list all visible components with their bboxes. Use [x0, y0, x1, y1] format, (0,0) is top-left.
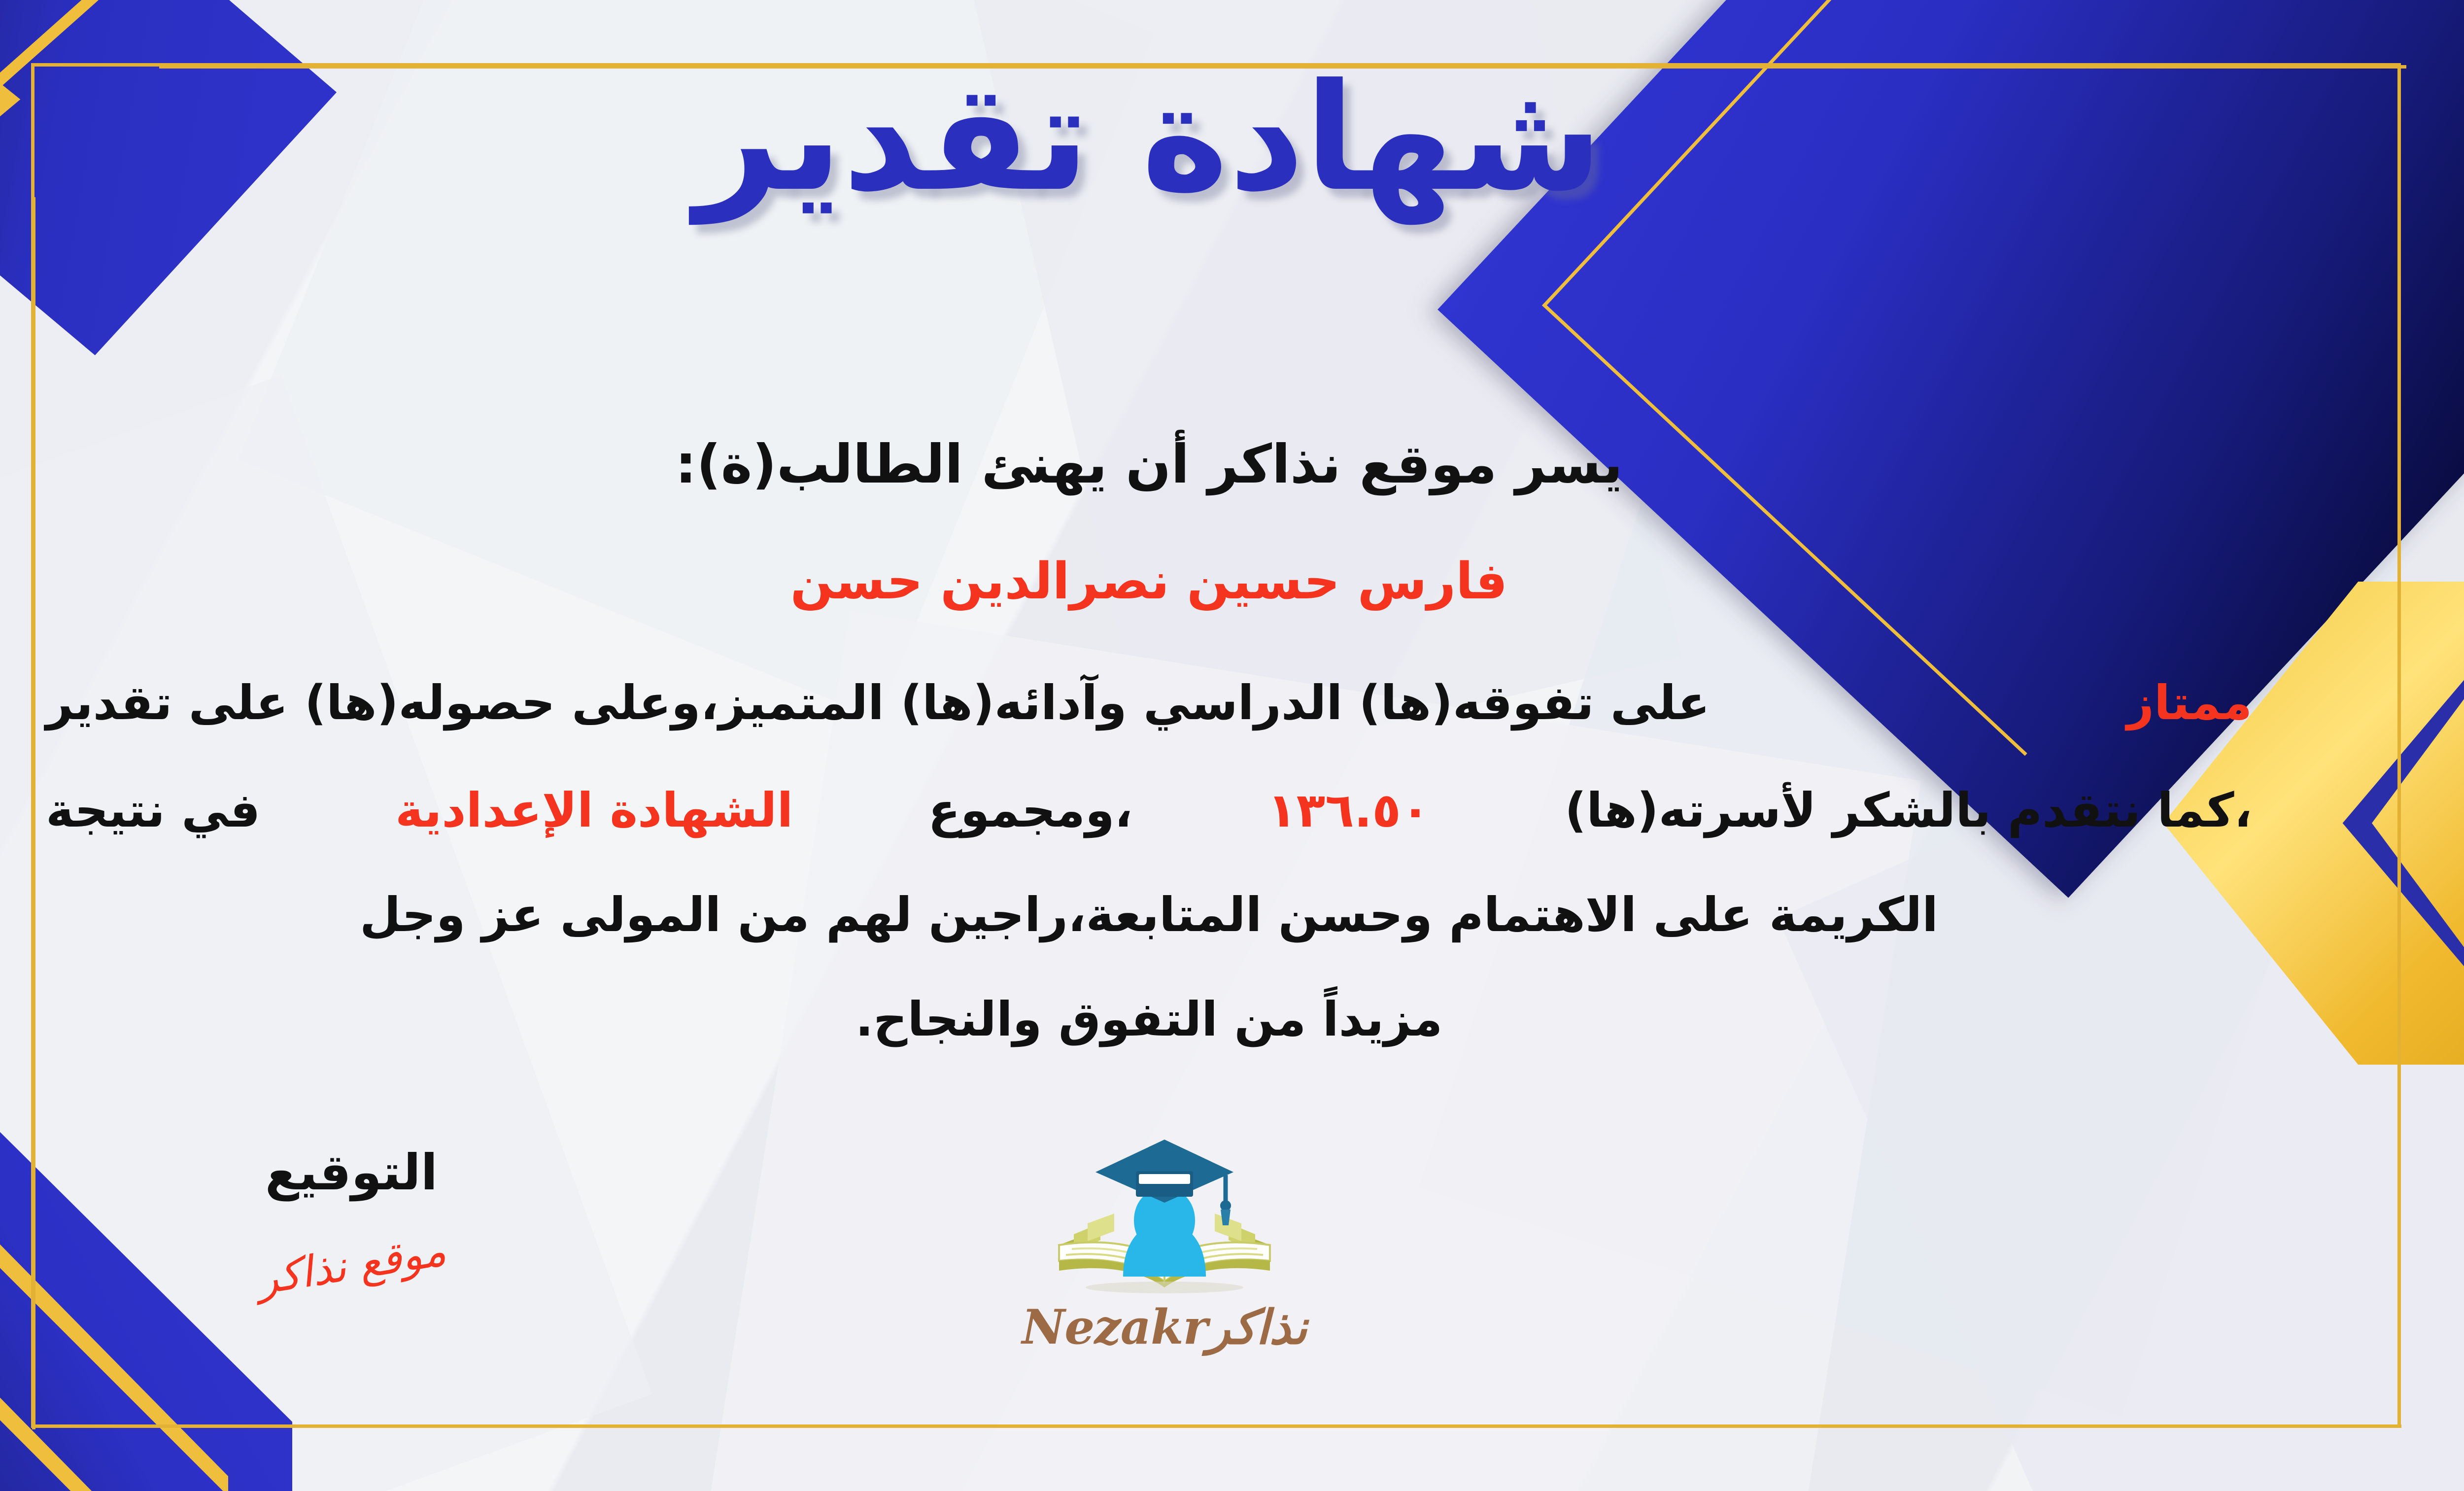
certificate-title: شهادة تقدير: [0, 45, 2464, 230]
signature-script: موقع نذاكر: [254, 1226, 449, 1304]
signature-label: التوقيع: [174, 1144, 529, 1201]
logo-arabic-text: نذاكر: [1207, 1299, 1307, 1355]
student-name: فارس حسين نصرالدين حسن: [0, 552, 2464, 611]
logo-mark: [1027, 1129, 1302, 1296]
body-line-2-head: في نتيجة: [46, 783, 260, 838]
intro-text: يسر موقع نذاكر أن يهنئ الطالب(ة):: [0, 434, 2464, 495]
graduate-book-icon: [1027, 1129, 1302, 1296]
body-line-2-tail: ،كما نتقدم بالشكر لأسرته(ها): [1565, 783, 2252, 838]
body-line-4: مزيداً من التفوق والنجاح.: [46, 992, 2252, 1047]
site-logo: نذاكرNezakr: [977, 1129, 1352, 1355]
total-score-value: ١٣٦.٥٠: [1267, 783, 1430, 838]
logo-wordmark: نذاكرNezakr: [977, 1299, 1352, 1355]
body-line-1: ممتاز على تفوقه(ها) الدراسي وآدائه(ها) ا…: [46, 675, 2252, 730]
exam-name-value: الشهادة الإعدادية: [395, 783, 793, 838]
certificate-content: شهادة تقدير يسر موقع نذاكر أن يهنئ الطال…: [0, 0, 2464, 1491]
body-line-3: الكريمة على الاهتمام وحسن المتابعة،راجين…: [46, 887, 2252, 942]
certificate-canvas: شهادة تقدير يسر موقع نذاكر أن يهنئ الطال…: [0, 0, 2464, 1491]
logo-latin-text: Nezakr: [1022, 1299, 1207, 1355]
signature-block: التوقيع موقع نذاكر: [174, 1144, 529, 1290]
total-score-label: ،ومجموع: [928, 783, 1132, 838]
body-line-2: ،كما نتقدم بالشكر لأسرته(ها) ١٣٦.٥٠ ،ومج…: [46, 783, 2252, 838]
grade-value: ممتاز: [2127, 675, 2252, 730]
body-line-1-text: على تفوقه(ها) الدراسي وآدائه(ها) المتميز…: [46, 675, 1710, 730]
